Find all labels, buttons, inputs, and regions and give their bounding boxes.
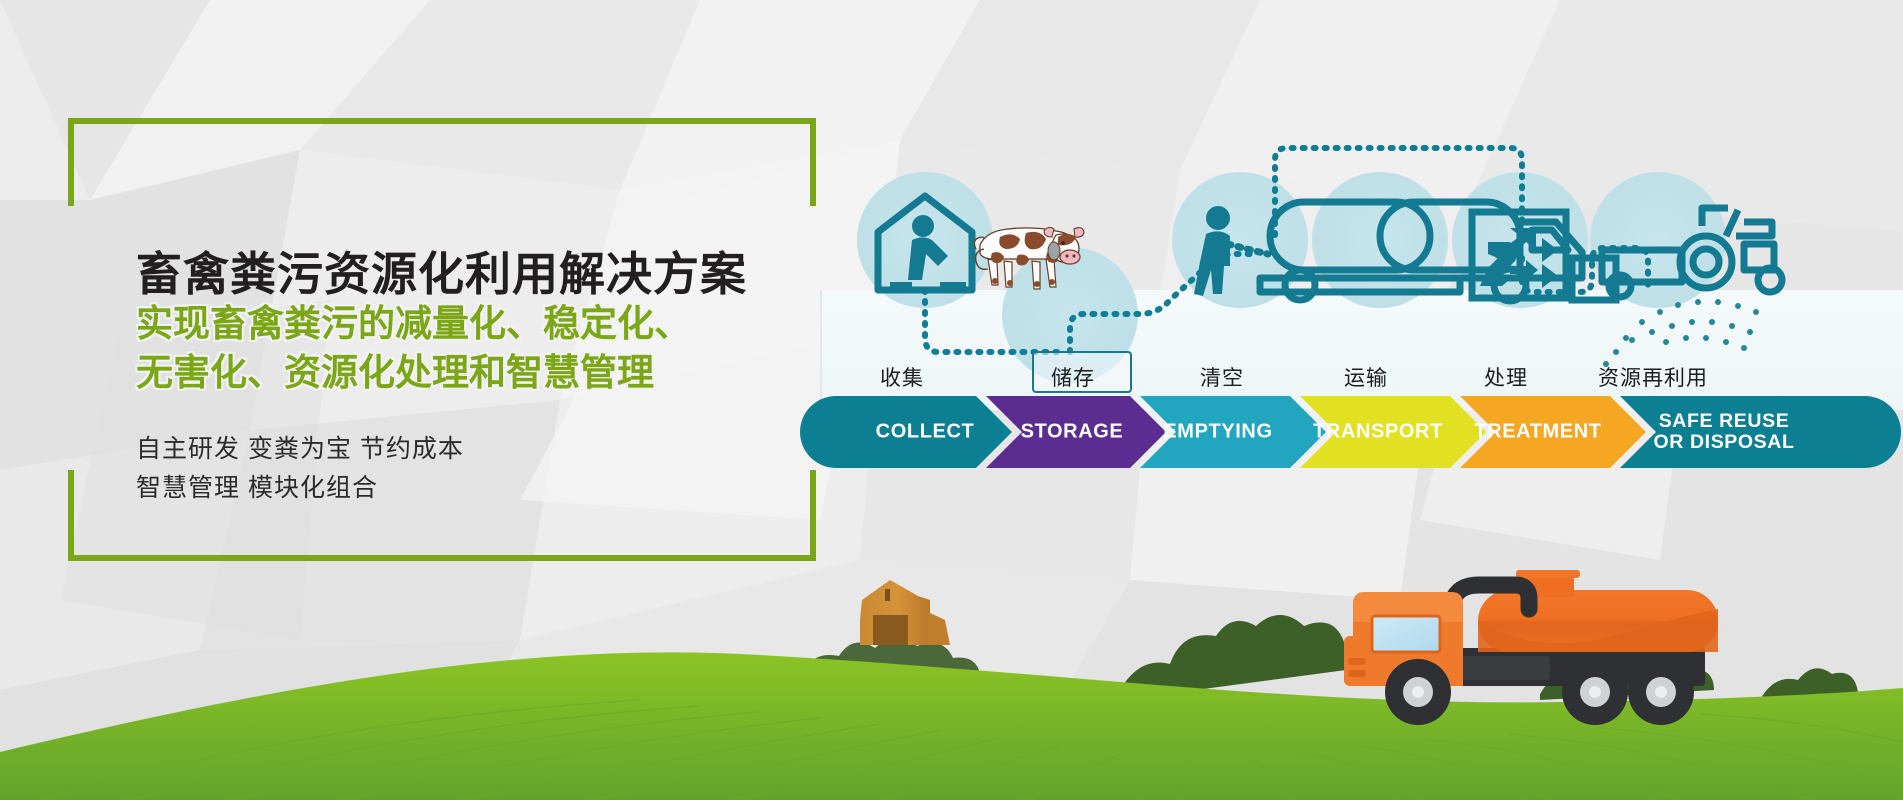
chevron-label-reuse: SAFE REUSE OR DISPOSAL <box>1654 411 1795 453</box>
step-label-transport: 运输 <box>1344 362 1388 392</box>
step-label-treatment: 处理 <box>1484 362 1528 392</box>
chevron-label-transport: TRANSPORT <box>1313 421 1443 444</box>
banner-stage: 畜禽粪污资源化利用解决方案 实现畜禽粪污的减量化、稳定化、 无害化、资源化处理和… <box>0 0 1903 800</box>
subtitle-line-1: 实现畜禽粪污的减量化、稳定化、 <box>136 300 691 349</box>
step-label-emptying: 清空 <box>1200 362 1244 392</box>
vacuum-tanker-truck <box>1344 570 1718 725</box>
subtitle-line-2: 无害化、资源化处理和智慧管理 <box>136 349 691 398</box>
step-label-collect: 收集 <box>880 362 924 392</box>
subtitle: 实现畜禽粪污的减量化、稳定化、 无害化、资源化处理和智慧管理 <box>136 300 691 398</box>
step-label-reuse: 资源再利用 <box>1598 362 1708 392</box>
tagline: 自主研发 变粪为宝 节约成本 智慧管理 模块化组合 <box>136 430 464 508</box>
step-label-storage: 储存 <box>1051 362 1095 392</box>
tagline-line-1: 自主研发 变粪为宝 节约成本 <box>136 430 464 469</box>
chevron-label-storage: STORAGE <box>1021 421 1124 444</box>
chevron-label-reuse-line-2: OR DISPOSAL <box>1654 432 1795 453</box>
barn-icon <box>860 580 950 645</box>
chevron-label-emptying: EMPTYING <box>1163 421 1272 444</box>
chevron-label-collect: COLLECT <box>876 421 975 444</box>
page-title: 畜禽粪污资源化利用解决方案 <box>136 249 747 300</box>
spread-dots <box>1603 299 1759 367</box>
chevron-label-treatment: TREATMENT <box>1474 421 1601 444</box>
cow-illustration <box>970 215 1085 300</box>
tagline-line-2: 智慧管理 模块化组合 <box>136 469 464 508</box>
chevron-label-reuse-line-1: SAFE REUSE <box>1654 411 1795 432</box>
